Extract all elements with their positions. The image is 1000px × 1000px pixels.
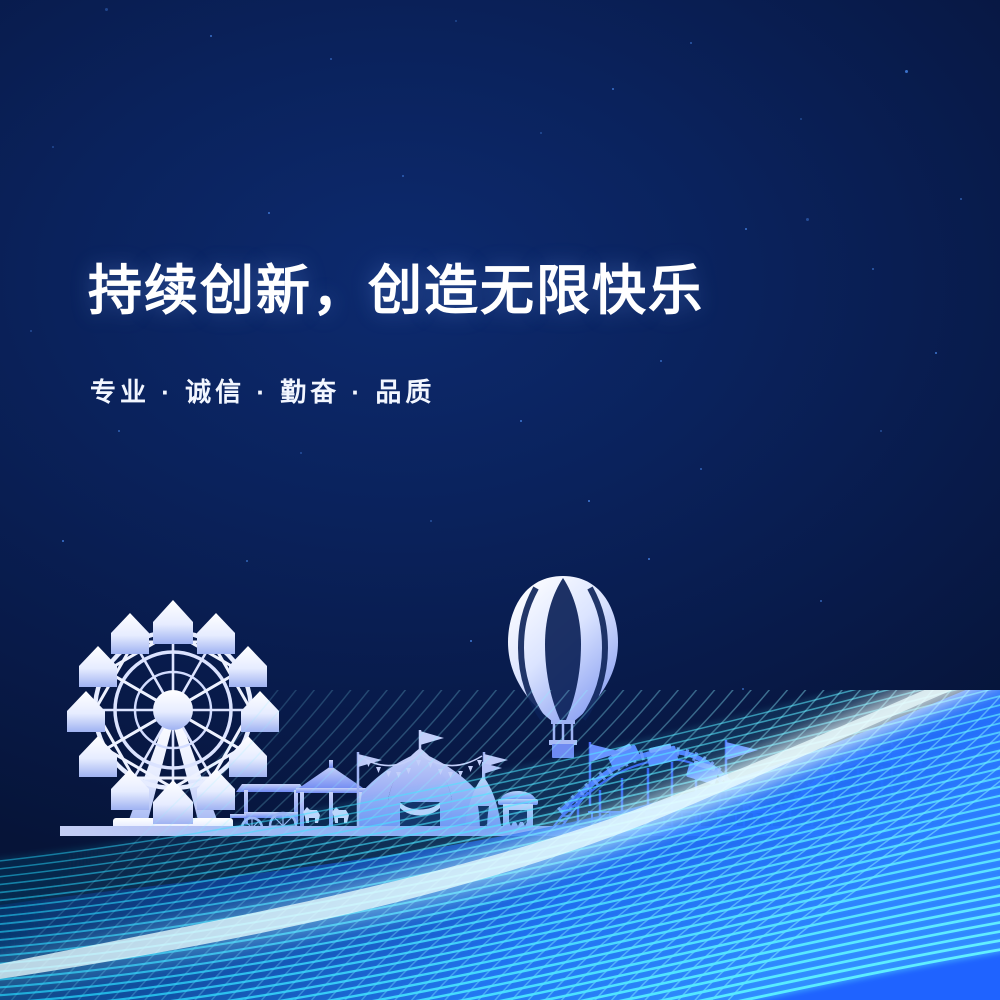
glow-wave-mesh [0, 0, 1000, 1000]
poster-canvas: 持续创新，创造无限快乐 专业 · 诚信 · 勤奋 · 品质 [0, 0, 1000, 1000]
